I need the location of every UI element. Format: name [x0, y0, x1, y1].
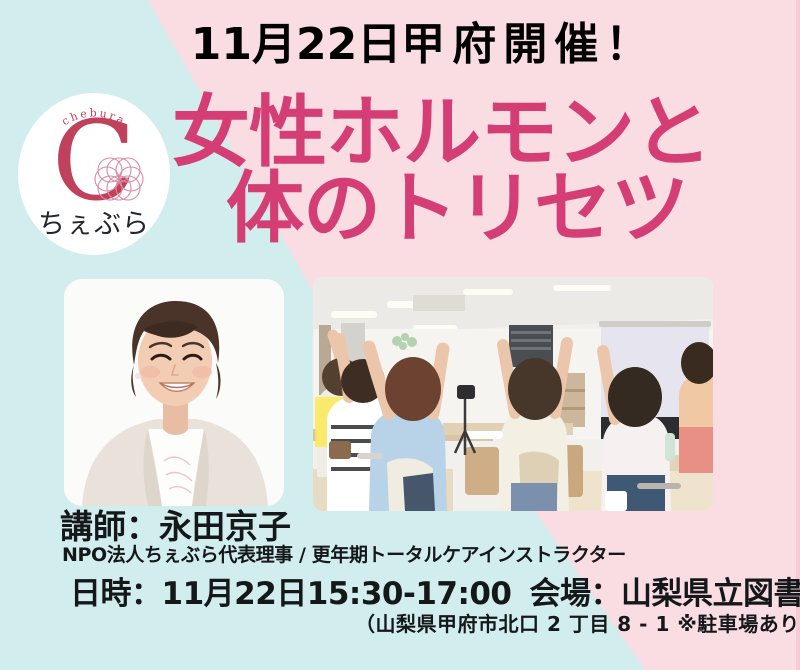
title-line-1: 女性ホルモンと	[172, 96, 800, 172]
speaker-portrait-photo	[64, 279, 284, 506]
page-title: 女性ホルモンと 体のトリセツ	[172, 96, 800, 247]
event-flyer: chebura C ちぇぶら 11月22日甲府開催！ 女性ホルモンと 体のトリセ…	[0, 0, 800, 670]
kicker-mark: ！	[605, 19, 649, 70]
logo-name-jp: ちぇぶら	[18, 202, 170, 241]
chebura-logo: chebura C ちぇぶら	[18, 93, 170, 255]
venue-address: （山梨県甲府市北口 2 丁目 8 - 1 ※駐車場あり）	[355, 608, 800, 637]
classroom-seminar-illustration	[313, 277, 713, 511]
speaker-role: NPO法人ちぇぶら代表理事 / 更年期トータルケアインストラクター	[62, 540, 626, 567]
classroom-seminar-photo	[313, 277, 713, 511]
seed-of-life-flower-icon	[88, 148, 150, 210]
venue-text: 会場：山梨県立図書館	[530, 576, 800, 612]
datetime-venue-line: 日時：11月22日15:30-17:00会場：山梨県立図書館	[70, 568, 800, 613]
speaker-portrait-illustration	[64, 279, 284, 506]
kicker-place: 甲府	[401, 19, 503, 70]
kicker-event: 開催	[503, 19, 605, 70]
title-line-2: 体のトリセツ	[226, 172, 800, 248]
kicker-headline: 11月22日甲府開催！	[140, 22, 700, 68]
kicker-date: 11月22日	[191, 19, 401, 70]
datetime-text: 日時：11月22日15:30-17:00	[70, 576, 512, 612]
